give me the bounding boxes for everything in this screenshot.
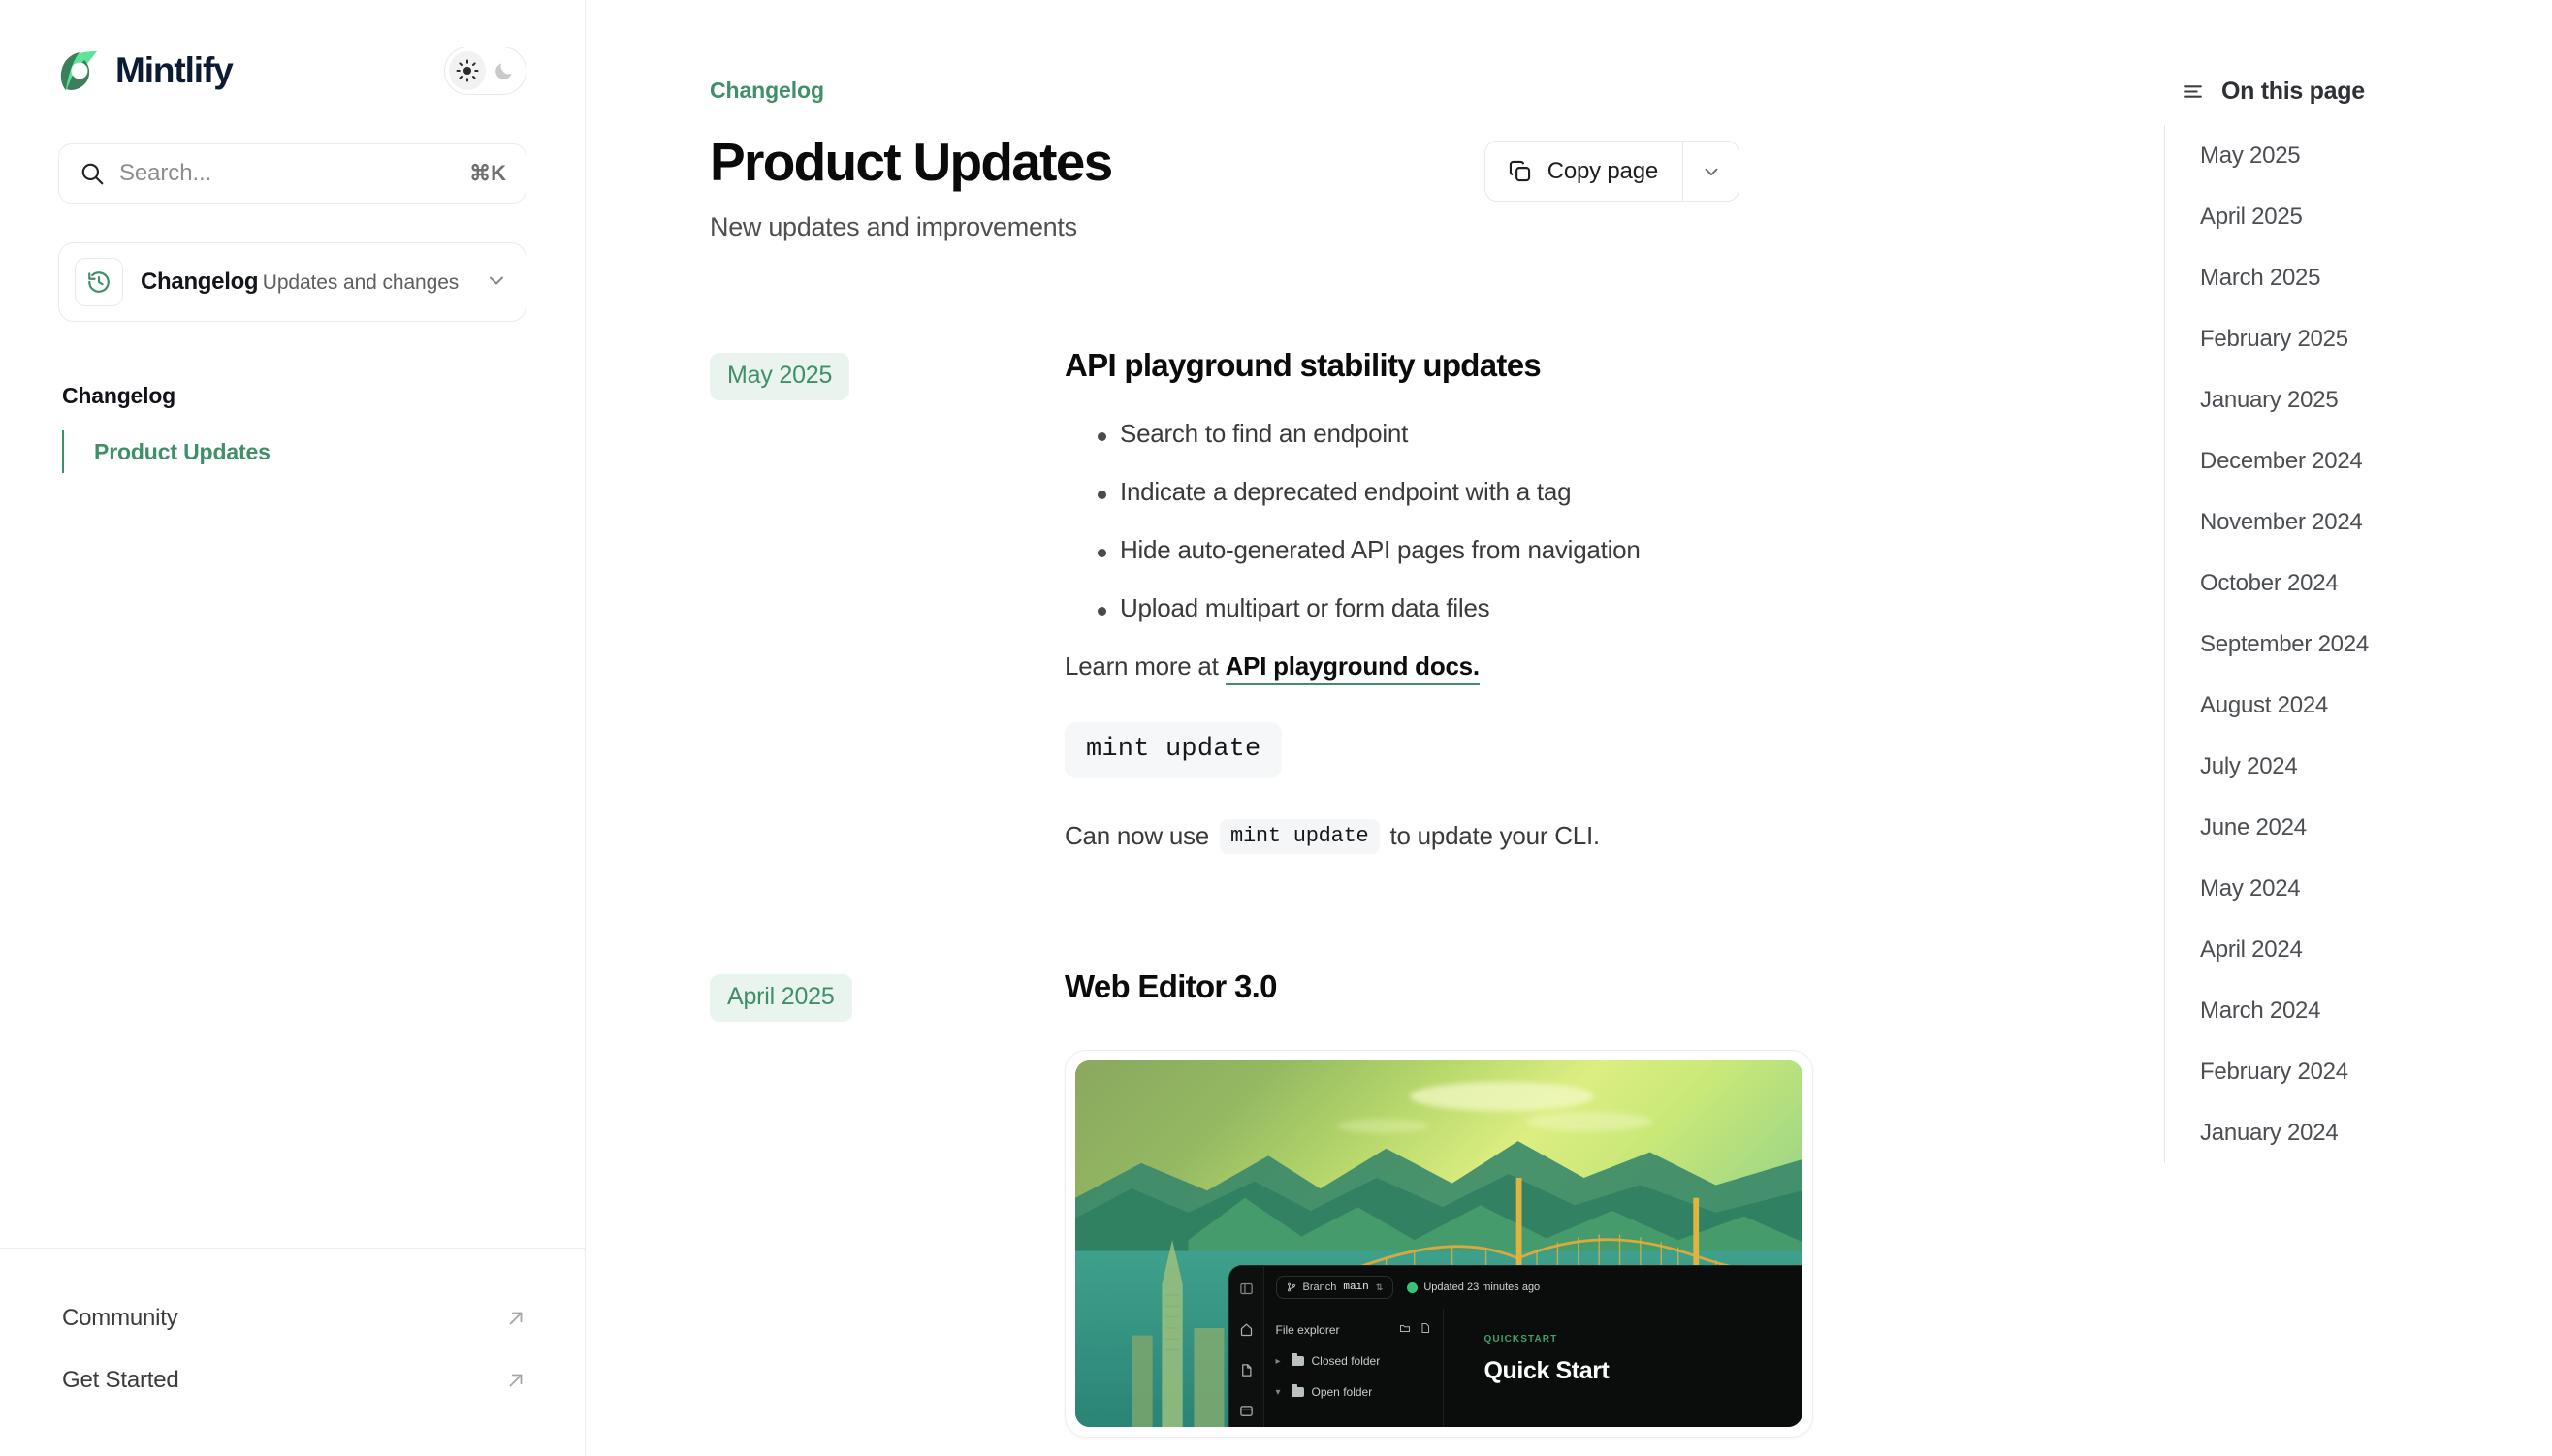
- toc-item[interactable]: July 2024: [2165, 736, 2552, 797]
- toc-link[interactable]: July 2024: [2200, 753, 2298, 780]
- toc-link[interactable]: February 2025: [2200, 326, 2348, 353]
- toc-link[interactable]: December 2024: [2200, 448, 2363, 475]
- branch-icon: [1287, 1282, 1296, 1293]
- toc-link[interactable]: April 2025: [2200, 204, 2303, 231]
- list-item: Upload multipart or form data files: [1065, 593, 1739, 623]
- chevron-down-icon[interactable]: [485, 269, 508, 297]
- file-tree-row-open-folder[interactable]: ▾ Open folder: [1276, 1385, 1431, 1399]
- toc-link[interactable]: October 2024: [2200, 570, 2338, 597]
- copy-page-group: Copy page: [1484, 141, 1739, 202]
- toc-item[interactable]: March 2025: [2165, 247, 2552, 308]
- changelog-selector-text: Changelog Updates and changes: [141, 268, 485, 296]
- external-link-arrow-icon: [505, 1370, 526, 1391]
- toc-list: May 2025 April 2025 March 2025 February …: [2164, 125, 2552, 1163]
- learn-more-paragraph: Learn more at API playground docs.: [1065, 651, 1739, 681]
- history-clock-icon: [75, 258, 123, 306]
- theme-toggle[interactable]: [444, 47, 526, 95]
- chevron-down-icon: [1701, 161, 1722, 182]
- entry-title: API playground stability updates: [1065, 347, 1739, 384]
- toc-item[interactable]: May 2024: [2165, 858, 2552, 919]
- chevron-down-icon: ▾: [1276, 1387, 1284, 1398]
- brand-logo[interactable]: Mintlify: [58, 48, 233, 93]
- toc-item[interactable]: October 2024: [2165, 553, 2552, 614]
- updated-text: Updated 23 minutes ago: [1423, 1282, 1540, 1293]
- changelog-entry: May 2025 API playground stability update…: [710, 347, 1739, 854]
- toc-item[interactable]: February 2024: [2165, 1041, 2552, 1102]
- folder-closed-icon: [1292, 1356, 1304, 1366]
- entry-body: Web Editor 3.0: [1065, 968, 1813, 1438]
- code-block-mint-update: mint update: [1065, 722, 1282, 778]
- doc-title: Quick Start: [1484, 1357, 1803, 1385]
- copy-page-dropdown-button[interactable]: [1682, 142, 1739, 201]
- changelog-selector-title: Changelog: [141, 269, 258, 295]
- chevron-updown-icon: ⇅: [1376, 1283, 1384, 1292]
- file-explorer-header: File explorer: [1276, 1322, 1431, 1337]
- main-content: Changelog Product Updates New updates an…: [586, 0, 2164, 1456]
- toc-link[interactable]: January 2025: [2200, 387, 2338, 414]
- breadcrumb[interactable]: Changelog: [710, 78, 1739, 104]
- file-edit-icon[interactable]: [1239, 1363, 1254, 1382]
- toc-item[interactable]: November 2024: [2165, 491, 2552, 553]
- file-explorer-label: File explorer: [1276, 1323, 1340, 1337]
- file-tree-label: Closed folder: [1312, 1354, 1381, 1368]
- new-file-icon[interactable]: [1420, 1322, 1431, 1337]
- sidebar-footer: Community Get Started: [0, 1248, 585, 1456]
- copy-page-label: Copy page: [1547, 158, 1658, 185]
- list-item: Hide auto-generated API pages from navig…: [1065, 535, 1739, 565]
- sidebar-item-product-updates[interactable]: Product Updates: [62, 430, 585, 473]
- new-folder-icon[interactable]: [1399, 1322, 1411, 1337]
- entry-date-column: May 2025: [710, 347, 1065, 400]
- list-item: Search to find an endpoint: [1065, 419, 1739, 449]
- toc-item[interactable]: December 2024: [2165, 430, 2552, 491]
- toc-header: On this page: [2164, 78, 2552, 106]
- brand-name: Mintlify: [115, 50, 233, 91]
- sidebar-item-label: Product Updates: [94, 439, 271, 465]
- sun-icon[interactable]: [449, 51, 486, 90]
- toc-item[interactable]: August 2024: [2165, 675, 2552, 736]
- toc-item[interactable]: January 2025: [2165, 369, 2552, 430]
- page-title: Product Updates: [710, 135, 1484, 191]
- sidebar-footer-label: Get Started: [62, 1367, 179, 1394]
- inline-code-mint-update: mint update: [1220, 819, 1379, 854]
- toc-item[interactable]: September 2024: [2165, 614, 2552, 675]
- list-item: Indicate a deprecated endpoint with a ta…: [1065, 477, 1739, 507]
- toc-link[interactable]: November 2024: [2200, 509, 2363, 536]
- entry-bullet-list: Search to find an endpoint Indicate a de…: [1065, 419, 1739, 623]
- toc-link[interactable]: February 2024: [2200, 1059, 2348, 1086]
- changelog-entries: May 2025 API playground stability update…: [710, 347, 1739, 1438]
- api-playground-docs-link[interactable]: API playground docs.: [1226, 651, 1480, 685]
- toc-link[interactable]: May 2024: [2200, 875, 2300, 902]
- entry-date-column: April 2025: [710, 968, 1065, 1022]
- sidebar-footer-get-started[interactable]: Get Started: [62, 1349, 526, 1411]
- terminal-icon[interactable]: [1239, 1404, 1254, 1423]
- web-editor-screenshot: Branch main ⇅ Updated 23 minutes ago: [1065, 1050, 1813, 1438]
- cli-prefix: Can now use: [1065, 821, 1209, 851]
- sidebar-group-title: Changelog: [62, 383, 585, 409]
- app-root: Mintlify: [0, 0, 2552, 1456]
- list-lines-icon: [2181, 79, 2205, 104]
- file-explorer-panel: File explorer ▸: [1264, 1309, 1444, 1426]
- updated-status: Updated 23 minutes ago: [1407, 1282, 1540, 1293]
- toc-heading: On this page: [2221, 78, 2365, 106]
- copy-page-button[interactable]: Copy page: [1485, 142, 1682, 201]
- cli-paragraph: Can now use mint update to update your C…: [1065, 819, 1739, 854]
- page-header-row: Product Updates New updates and improvem…: [710, 135, 1739, 242]
- toc-link[interactable]: March 2025: [2200, 265, 2320, 292]
- sidebar-toggle-icon[interactable]: [1239, 1282, 1254, 1301]
- external-link-arrow-icon: [505, 1308, 526, 1329]
- search-shortcut: ⌘K: [469, 161, 506, 186]
- changelog-selector-subtitle: Updates and changes: [263, 271, 459, 294]
- toc-link[interactable]: September 2024: [2200, 631, 2369, 658]
- entry-body: API playground stability updates Search …: [1065, 347, 1739, 854]
- branch-name: main: [1343, 1282, 1368, 1293]
- search-placeholder: Search...: [119, 160, 469, 187]
- toc-link[interactable]: June 2024: [2200, 814, 2307, 841]
- toc-link[interactable]: January 2024: [2200, 1120, 2338, 1147]
- sidebar-footer-label: Community: [62, 1305, 178, 1332]
- toc-item[interactable]: February 2025: [2165, 308, 2552, 369]
- page-subtitle: New updates and improvements: [710, 212, 1484, 242]
- learn-more-prefix: Learn more at: [1065, 651, 1226, 681]
- check-circle-icon: [1407, 1282, 1418, 1293]
- date-badge[interactable]: May 2025: [710, 353, 849, 400]
- toc-link[interactable]: March 2024: [2200, 997, 2320, 1025]
- search-input[interactable]: Search... ⌘K: [58, 143, 526, 204]
- toc-item[interactable]: June 2024: [2165, 797, 2552, 858]
- on-this-page-panel: On this page May 2025 April 2025 March 2…: [2164, 0, 2552, 1456]
- file-tree-row-closed-folder[interactable]: ▸ Closed folder: [1276, 1354, 1431, 1368]
- moon-icon[interactable]: [486, 51, 523, 90]
- sidebar-footer-community[interactable]: Community: [62, 1287, 526, 1349]
- active-indicator-bar: [62, 430, 64, 473]
- left-sidebar: Mintlify: [0, 0, 586, 1456]
- editor-topbar: Branch main ⇅ Updated 23 minutes ago: [1264, 1266, 1803, 1309]
- branch-selector[interactable]: Branch main ⇅: [1276, 1276, 1394, 1299]
- web-editor-ui: Branch main ⇅ Updated 23 minutes ago: [1228, 1265, 1803, 1426]
- toc-link[interactable]: August 2024: [2200, 692, 2328, 719]
- file-explorer-actions: [1399, 1322, 1431, 1337]
- toc-item[interactable]: January 2024: [2165, 1102, 2552, 1163]
- toc-item[interactable]: May 2025: [2165, 125, 2552, 186]
- search-icon: [80, 161, 105, 186]
- toc-link[interactable]: April 2024: [2200, 936, 2303, 964]
- changelog-selector[interactable]: Changelog Updates and changes: [58, 242, 526, 322]
- folder-open-icon: [1292, 1387, 1304, 1397]
- branch-label: Branch: [1303, 1282, 1337, 1293]
- copy-icon: [1507, 158, 1533, 184]
- editor-icon-rail: [1229, 1266, 1264, 1426]
- chevron-right-icon: ▸: [1276, 1356, 1284, 1367]
- doc-eyebrow: QUICKSTART: [1484, 1334, 1803, 1345]
- home-icon[interactable]: [1239, 1322, 1254, 1342]
- cli-suffix: to update your CLI.: [1390, 821, 1600, 851]
- sidebar-nav: Product Updates: [0, 430, 585, 473]
- sidebar-header: Mintlify: [58, 43, 526, 99]
- mintlify-leaf-logo-icon: [58, 48, 103, 93]
- file-tree-label: Open folder: [1312, 1385, 1373, 1399]
- editor-document-preview: QUICKSTART Quick Start: [1444, 1309, 1803, 1426]
- toc-item[interactable]: April 2024: [2165, 919, 2552, 980]
- screenshot-canvas: Branch main ⇅ Updated 23 minutes ago: [1075, 1060, 1802, 1427]
- entry-title: Web Editor 3.0: [1065, 968, 1813, 1005]
- toc-link[interactable]: May 2025: [2200, 142, 2300, 170]
- toc-item[interactable]: April 2025: [2165, 186, 2552, 247]
- date-badge[interactable]: April 2025: [710, 974, 852, 1022]
- changelog-entry: April 2025 Web Editor 3.0: [710, 968, 1739, 1438]
- toc-item[interactable]: March 2024: [2165, 980, 2552, 1041]
